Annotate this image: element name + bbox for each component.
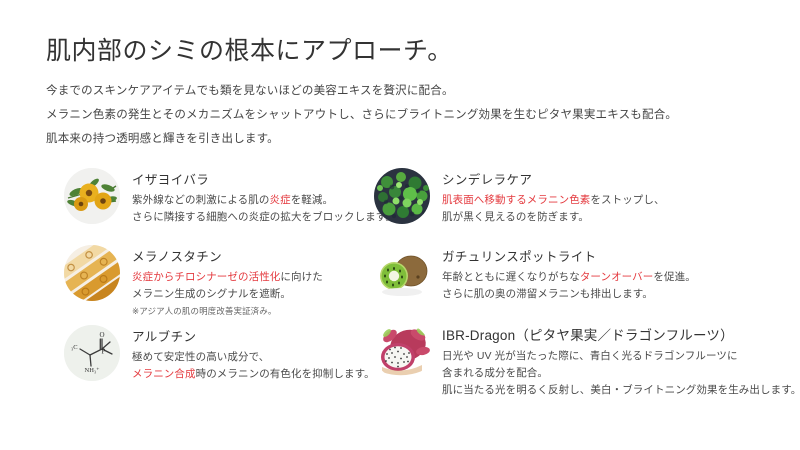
ingredient-text: ガチュリンスポットライト年齢とともに遅くなりがちなターンオーバーを促進。さらに肌…: [442, 245, 696, 303]
ingredient-description-line: 肌が黒く見えるのを防ぎます。: [442, 209, 665, 226]
kiwi-fruit-icon: [374, 245, 430, 301]
description-text: 肌が黒く見えるのを防ぎます。: [442, 211, 589, 223]
ingredient-name: メラノスタチン: [132, 246, 323, 265]
intro-line-3: 肌本来の持つ透明感と輝きを引き出します。: [46, 130, 746, 149]
description-text: 肌に当たる光を明るく反射し、美白・ブライトニング効果を生み出します。: [442, 384, 800, 396]
chemical-structure-icon: ₃C P O NH₃⁺: [64, 325, 120, 381]
description-text: に向けた: [280, 271, 322, 283]
page-title: 肌内部のシミの根本にアプローチ。: [46, 36, 453, 66]
intro-line-1: 今までのスキンケアアイテムでも類を見ないほどの美容エキスを贅沢に配合。: [46, 82, 746, 101]
ingredient-item: イザヨイバラ紫外線などの刺激による肌の炎症を軽減。さらに隣接する細胞への炎症の拡…: [64, 168, 396, 226]
ingredient-footnote: ※アジア人の肌の明度改善実証済み。: [132, 305, 323, 317]
ingredient-description-line: 含まれる成分を配合。: [442, 365, 800, 382]
svg-text:P: P: [102, 348, 106, 356]
svg-text:₃C: ₃C: [71, 344, 78, 351]
highlighted-text: ターンオーバー: [580, 271, 654, 283]
description-text: を軽減。: [291, 194, 333, 206]
description-text: 極めて安定性の高い成分で、: [132, 351, 269, 363]
ingredient-name: イザヨイバラ: [132, 169, 396, 188]
ingredient-name: アルブチン: [132, 326, 375, 345]
highlighted-text: メラニン合成: [132, 368, 196, 380]
svg-text:NH₃⁺: NH₃⁺: [85, 367, 101, 374]
ingredient-item: ガチュリンスポットライト年齢とともに遅くなりがちなターンオーバーを促進。さらに肌…: [374, 245, 696, 303]
description-text: 日光や UV 光が当たった際に、青白く光るドラゴンフルーツに: [442, 350, 738, 362]
ingredient-item: シンデレラケア肌表面へ移動するメラニン色素をストップし、肌が黒く見えるのを防ぎま…: [374, 168, 665, 226]
description-text: メラニン生成のシグナルを遮断。: [132, 288, 291, 300]
description-text: 紫外線などの刺激による肌の: [132, 194, 269, 206]
ingredient-description-line: 肌に当たる光を明るく反射し、美白・ブライトニング効果を生み出します。: [442, 382, 800, 399]
description-text: 含まれる成分を配合。: [442, 367, 548, 379]
product-ingredient-page: 肌内部のシミの根本にアプローチ。 今までのスキンケアアイテムでも類を見ないほどの…: [0, 0, 800, 450]
description-text: さらに肌の奥の滞留メラニンも排出します。: [442, 288, 653, 300]
green-algae-icon: [374, 168, 430, 224]
svg-text:O: O: [100, 331, 105, 339]
ingredient-description-line: 紫外線などの刺激による肌の炎症を軽減。: [132, 192, 396, 209]
ingredient-item: メラノスタチン炎症からチロシナーゼの活性化に向けたメラニン生成のシグナルを遮断。…: [64, 245, 323, 317]
ingredient-description-line: 年齢とともに遅くなりがちなターンオーバーを促進。: [442, 269, 696, 286]
ingredient-name: シンデレラケア: [442, 169, 665, 188]
ingredient-text: メラノスタチン炎症からチロシナーゼの活性化に向けたメラニン生成のシグナルを遮断。…: [132, 245, 323, 317]
ingredient-description-line: さらに隣接する細胞への炎症の拡大をブロックします。: [132, 209, 396, 226]
ingredient-name: IBR-Dragon（ピタヤ果実／ドラゴンフルーツ）: [442, 324, 800, 344]
ingredient-text: アルブチン極めて安定性の高い成分で、メラニン合成時のメラニンの有色化を抑制します…: [132, 325, 375, 383]
description-text: さらに隣接する細胞への炎症の拡大をブロックします。: [132, 211, 396, 223]
highlighted-text: 肌表面へ移動するメラニン色素: [442, 194, 590, 206]
highlighted-text: 炎症: [269, 194, 290, 206]
amber-rods-icon: [64, 245, 120, 301]
ingredient-description-line: さらに肌の奥の滞留メラニンも排出します。: [442, 286, 696, 303]
ingredient-description-line: メラニン生成のシグナルを遮断。: [132, 286, 323, 303]
ingredient-description-line: 肌表面へ移動するメラニン色素をストップし、: [442, 192, 665, 209]
ingredient-description-line: 炎症からチロシナーゼの活性化に向けた: [132, 269, 323, 286]
description-text: 年齢とともに遅くなりがちな: [442, 271, 580, 283]
highlighted-text: 炎症からチロシナーゼの活性化: [132, 271, 280, 283]
description-text: をストップし、: [590, 194, 664, 206]
ingredient-description-line: 日光や UV 光が当たった際に、青白く光るドラゴンフルーツに: [442, 348, 800, 365]
ingredient-item: ₃C P O NH₃⁺ アルブチン極めて安定性の高い成分で、メラニン合成時のメラ…: [64, 325, 375, 383]
ingredient-description-line: メラニン合成時のメラニンの有色化を抑制します。: [132, 366, 375, 383]
ingredient-text: IBR-Dragon（ピタヤ果実／ドラゴンフルーツ）日光や UV 光が当たった際…: [442, 323, 800, 399]
description-text: 時のメラニンの有色化を抑制します。: [196, 368, 375, 380]
ingredient-name: ガチュリンスポットライト: [442, 246, 696, 265]
description-text: を促進。: [653, 271, 695, 283]
ingredient-text: シンデレラケア肌表面へ移動するメラニン色素をストップし、肌が黒く見えるのを防ぎま…: [442, 168, 665, 226]
ingredient-item: IBR-Dragon（ピタヤ果実／ドラゴンフルーツ）日光や UV 光が当たった際…: [374, 323, 800, 399]
intro-line-2: メラニン色素の発生とそのメカニズムをシャットアウトし、さらにブライトニング効果を…: [46, 106, 746, 125]
intro-paragraphs: 今までのスキンケアアイテムでも類を見ないほどの美容エキスを贅沢に配合。 メラニン…: [46, 82, 746, 154]
ingredient-description-line: 極めて安定性の高い成分で、: [132, 349, 375, 366]
dragon-fruit-icon: [374, 323, 430, 379]
rose-flowers-icon: [64, 168, 120, 224]
ingredient-text: イザヨイバラ紫外線などの刺激による肌の炎症を軽減。さらに隣接する細胞への炎症の拡…: [132, 168, 396, 226]
